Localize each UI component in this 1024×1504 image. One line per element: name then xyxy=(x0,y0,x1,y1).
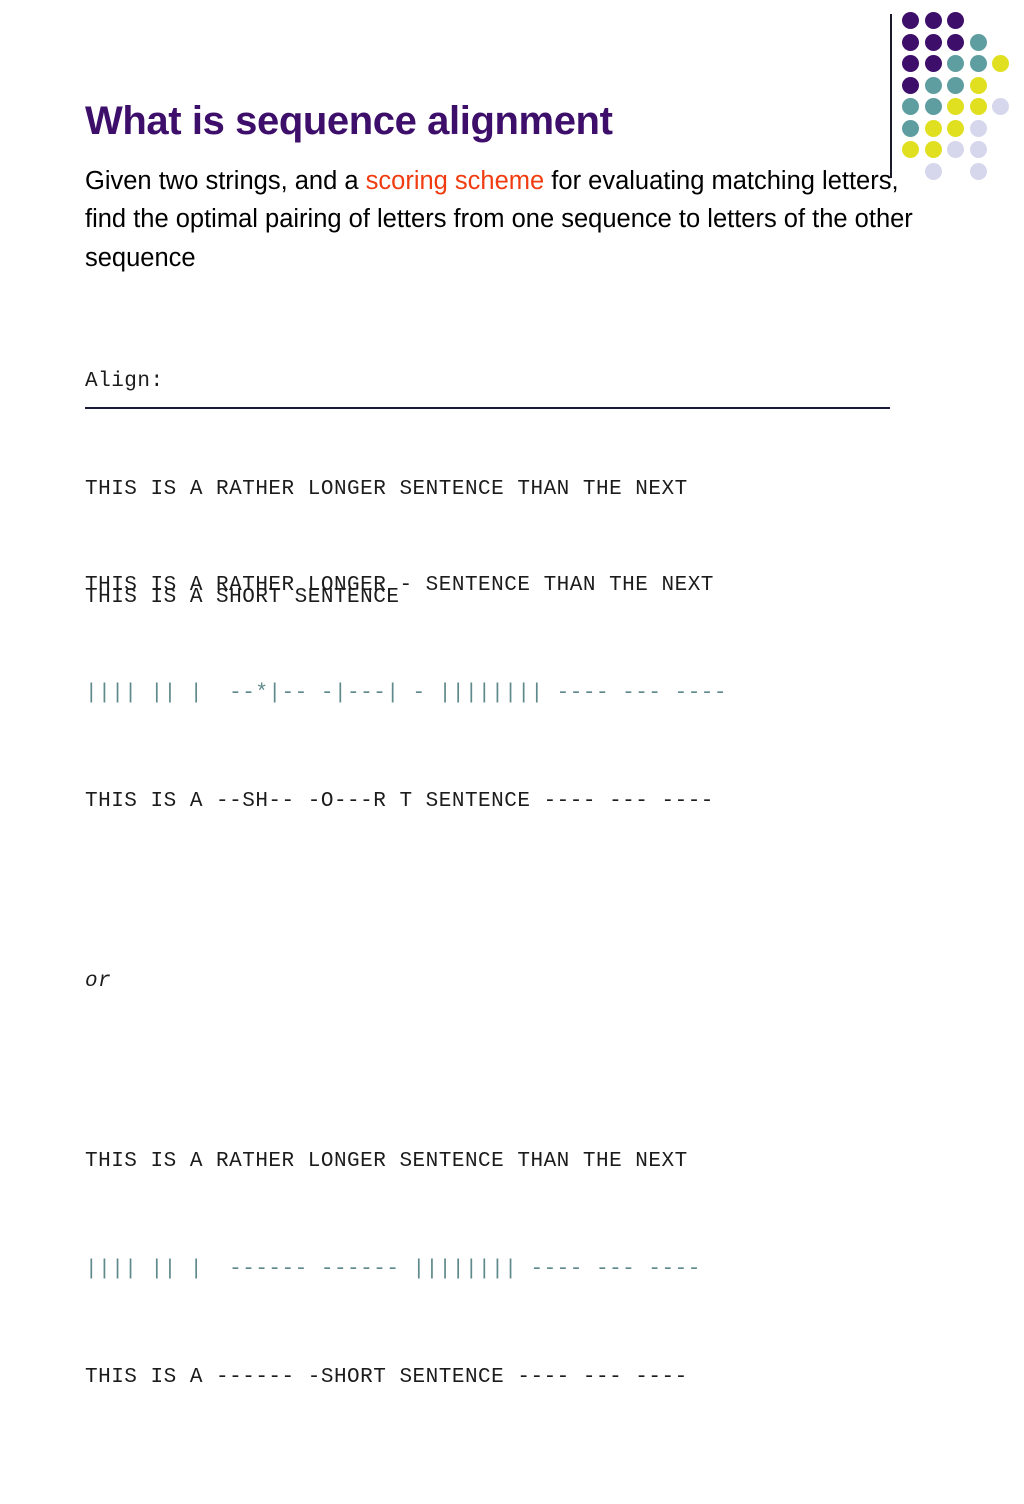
decorative-dot xyxy=(970,77,987,94)
alignment-1-top: THIS IS A RATHER LONGER - SENTENCE THAN … xyxy=(85,568,727,604)
alignment-1: THIS IS A RATHER LONGER - SENTENCE THAN … xyxy=(85,496,727,892)
decorative-dot xyxy=(925,34,942,51)
decorative-dot xyxy=(947,34,964,51)
decorative-dot xyxy=(925,55,942,72)
decorative-dot xyxy=(925,12,942,29)
decorative-dot xyxy=(970,55,987,72)
decorative-dot xyxy=(902,55,919,72)
decorative-dot xyxy=(902,34,919,51)
decorative-dot xyxy=(925,163,942,180)
decorative-dot xyxy=(970,120,987,137)
decorative-dot xyxy=(992,55,1009,72)
decorative-dot xyxy=(902,98,919,115)
decorative-dot xyxy=(947,120,964,137)
decorative-dot xyxy=(902,77,919,94)
align-label: Align: xyxy=(85,364,688,400)
body-text-part1: Given two strings, and a xyxy=(85,167,366,195)
decorative-dot xyxy=(902,141,919,158)
decorative-dot xyxy=(925,77,942,94)
alignment-1-bottom: THIS IS A --SH-- -O---R T SENTENCE ---- … xyxy=(85,784,727,820)
decorative-dot xyxy=(947,98,964,115)
alignment-separator-or: or xyxy=(85,964,727,1000)
alignment-2: THIS IS A RATHER LONGER SENTENCE THAN TH… xyxy=(85,1072,727,1468)
decorative-dot xyxy=(902,12,919,29)
decorative-dot xyxy=(947,77,964,94)
decorative-dot xyxy=(902,120,919,137)
decorative-dot xyxy=(925,120,942,137)
decorative-dot xyxy=(970,163,987,180)
alignment-2-top: THIS IS A RATHER LONGER SENTENCE THAN TH… xyxy=(85,1144,727,1180)
decorative-dot xyxy=(947,12,964,29)
body-paragraph: Given two strings, and a scoring scheme … xyxy=(85,162,915,278)
decorative-dot xyxy=(992,98,1009,115)
alignment-2-bottom: THIS IS A ------ -SHORT SENTENCE ---- --… xyxy=(85,1360,727,1396)
header-vertical-rule xyxy=(890,14,892,178)
scoring-scheme-highlight: scoring scheme xyxy=(366,167,545,195)
decorative-dot xyxy=(925,141,942,158)
decorative-dot xyxy=(970,98,987,115)
alignment-results-block: THIS IS A RATHER LONGER - SENTENCE THAN … xyxy=(85,424,727,1504)
decorative-dot xyxy=(970,141,987,158)
decorative-dot xyxy=(925,98,942,115)
decorative-dot xyxy=(947,55,964,72)
section-divider xyxy=(85,407,890,409)
decorative-dot-grid xyxy=(902,12,1020,182)
alignment-1-match: |||| || | --*|-- -|---| - |||||||| ---- … xyxy=(85,676,727,712)
decorative-dot xyxy=(947,141,964,158)
decorative-dot xyxy=(970,34,987,51)
alignment-2-match: |||| || | ------ ------ |||||||| ---- --… xyxy=(85,1252,727,1288)
page-title: What is sequence alignment xyxy=(85,99,613,143)
